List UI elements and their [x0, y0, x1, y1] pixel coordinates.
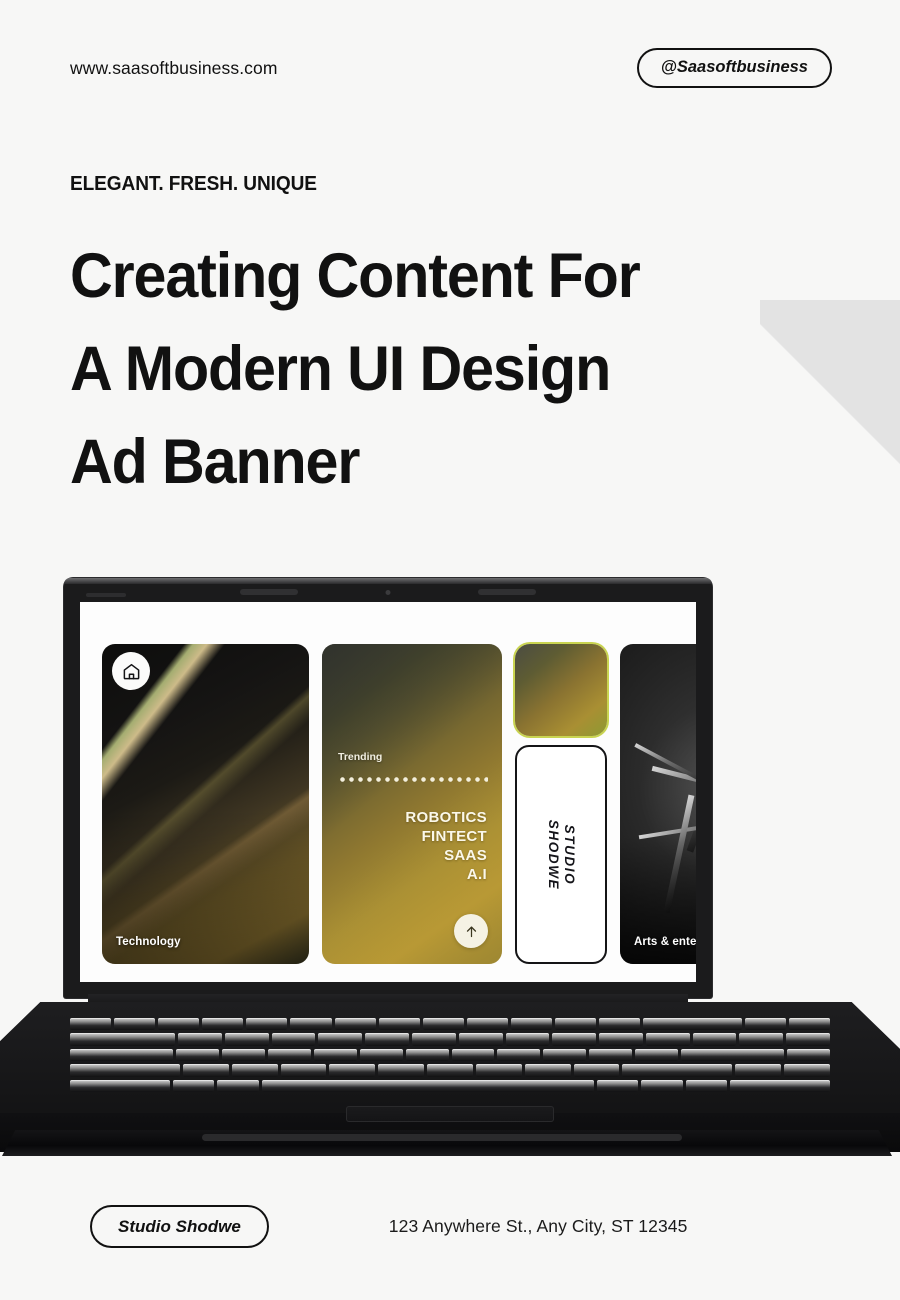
laptop-screen: Technology Trending ROBOTICS FINTECT SAA… [80, 602, 696, 982]
keyword-item: SAAS [405, 846, 487, 865]
poster-canvas: www.saasoftbusiness.com @Saasoftbusiness… [0, 0, 900, 1300]
hero-headline: Creating Content For A Modern UI Design … [70, 230, 747, 510]
keyword-item: A.I [405, 865, 487, 884]
brand-vertical-text: STUDIO SHODWE [545, 819, 577, 889]
address-text: 123 Anywhere St., Any City, ST 12345 [389, 1216, 688, 1237]
headline-line-2: A Modern UI Design [70, 323, 747, 416]
hero-eyebrow: ELEGANT. FRESH. UNIQUE [70, 172, 740, 196]
card-carousel[interactable]: Technology Trending ROBOTICS FINTECT SAA… [102, 644, 696, 964]
laptop-mockup: Technology Trending ROBOTICS FINTECT SAA… [0, 578, 900, 1178]
card-arts-entertainment[interactable]: Arts & entertainment [620, 644, 696, 964]
card-trending[interactable]: Trending ROBOTICS FINTECT SAAS A.I [322, 644, 502, 964]
keyword-item: FINTECT [405, 827, 487, 846]
brand-line-2: SHODWE [545, 819, 561, 889]
laptop-keyboard [70, 1018, 830, 1092]
laptop-lid: Technology Trending ROBOTICS FINTECT SAA… [64, 578, 712, 998]
laptop-vent [86, 593, 126, 597]
keyboard-row [70, 1018, 830, 1030]
dotted-divider [338, 777, 488, 782]
keyboard-row [70, 1033, 830, 1045]
home-icon[interactable] [112, 652, 150, 690]
keyboard-row [70, 1064, 830, 1076]
site-url[interactable]: www.saasoftbusiness.com [70, 58, 278, 79]
arts-glow [620, 644, 696, 964]
hero-text-block: ELEGANT. FRESH. UNIQUE Creating Content … [70, 172, 790, 510]
arrow-up-icon[interactable] [454, 914, 488, 948]
card-label: Technology [116, 936, 181, 948]
headline-line-1: Creating Content For [70, 230, 747, 323]
thumbnail-swatch[interactable] [515, 644, 607, 736]
keyboard-row [70, 1049, 830, 1061]
keyword-item: ROBOTICS [405, 808, 487, 827]
laptop-bezel-notch-right [478, 589, 536, 595]
brand-line-1: STUDIO [561, 819, 577, 889]
brand-pill[interactable]: Studio Shodwe [90, 1205, 269, 1248]
keyboard-row [70, 1080, 830, 1092]
headline-line-3: Ad Banner [70, 416, 747, 509]
card-studio-column[interactable]: STUDIO SHODWE [515, 644, 607, 964]
card-technology[interactable]: Technology [102, 644, 309, 964]
social-handle-pill[interactable]: @Saasoftbusiness [637, 48, 832, 88]
keyword-list: ROBOTICS FINTECT SAAS A.I [405, 808, 487, 884]
laptop-bezel-notch-left [240, 589, 298, 595]
card-label: Trending [338, 751, 382, 763]
header: www.saasoftbusiness.com @Saasoftbusiness [0, 44, 900, 92]
laptop-trackpad [346, 1106, 554, 1122]
webcam-icon [386, 590, 391, 595]
footer: Studio Shodwe 123 Anywhere St., Any City… [0, 1205, 900, 1248]
laptop-lid-top-edge [64, 578, 712, 584]
laptop-base-lip [202, 1134, 682, 1141]
card-studio-brand[interactable]: STUDIO SHODWE [515, 745, 607, 964]
card-label: Arts & entertainment [634, 936, 696, 948]
